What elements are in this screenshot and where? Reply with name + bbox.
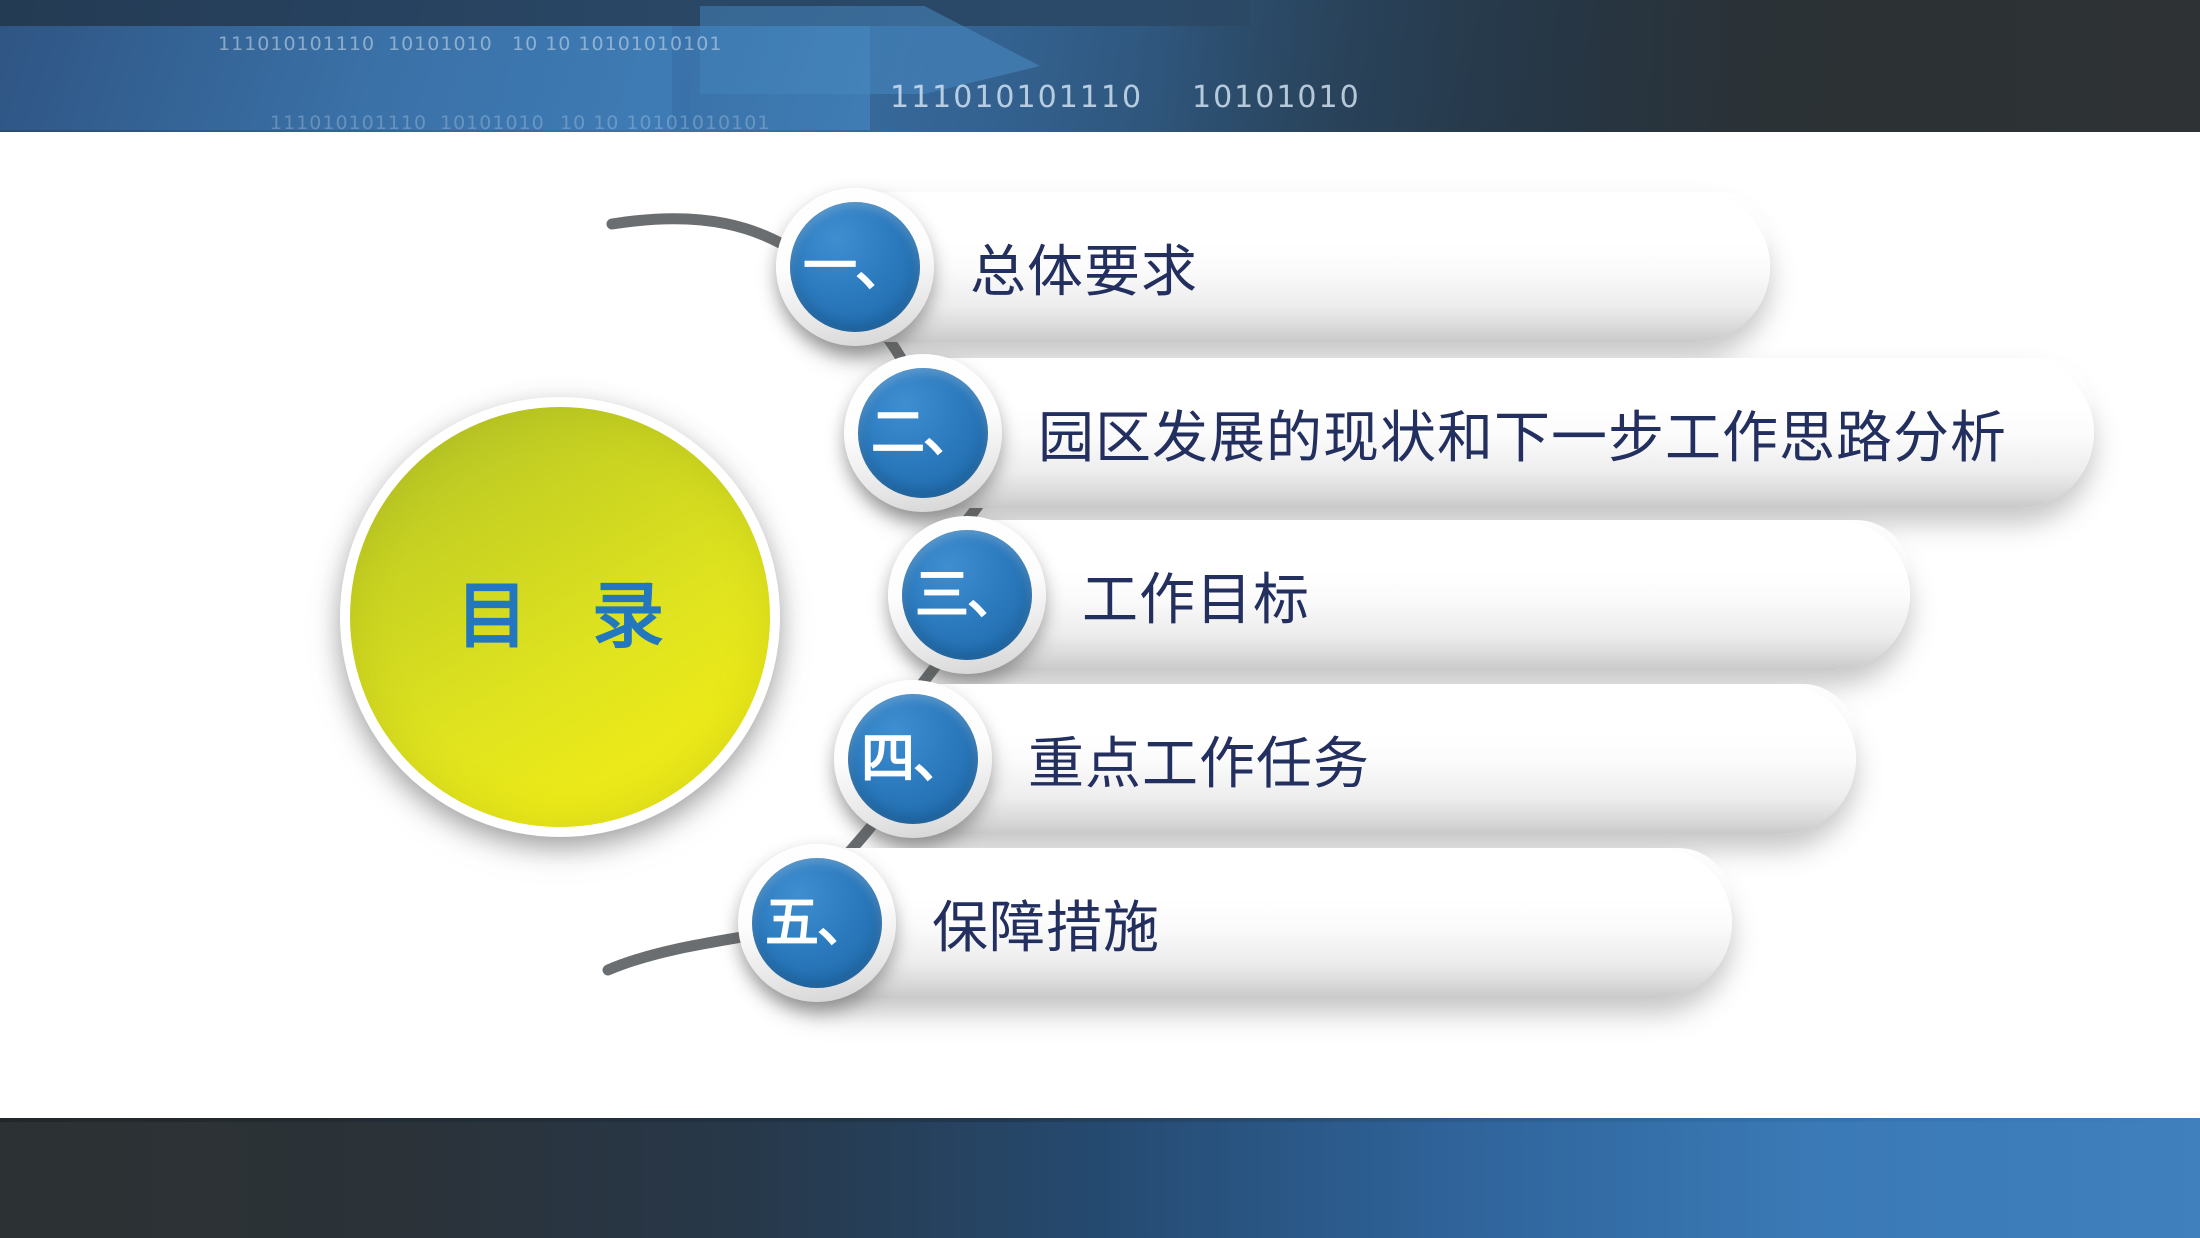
agenda-badge-4[interactable]: 四、 bbox=[834, 680, 992, 838]
agenda-number-2: 二、 bbox=[871, 406, 975, 460]
binary-text: 10101010 bbox=[440, 112, 545, 132]
agenda-pill-5[interactable] bbox=[752, 848, 1732, 998]
binary-text: 10 10 10101010101 bbox=[512, 33, 722, 55]
binary-text: 111010101110 bbox=[218, 33, 375, 55]
badge-core: 四、 bbox=[848, 694, 978, 824]
agenda-label-3: 工作目标 bbox=[1082, 520, 1310, 670]
agenda-row-2[interactable]: 园区发展的现状和下一步工作思路分析 二、 bbox=[858, 358, 2094, 508]
agenda-pill-3[interactable] bbox=[902, 520, 1910, 670]
banner-dark-strip bbox=[0, 0, 1250, 26]
binary-text: 111010101110 bbox=[270, 112, 427, 132]
binary-text: 111010101110 bbox=[890, 80, 1143, 115]
agenda-badge-3[interactable]: 三、 bbox=[888, 516, 1046, 674]
agenda-number-5: 五、 bbox=[765, 896, 869, 950]
agenda-label-1: 总体要求 bbox=[970, 192, 1198, 342]
agenda-row-4[interactable]: 重点工作任务 四、 bbox=[848, 684, 1856, 834]
agenda-number-1: 一、 bbox=[803, 240, 907, 294]
agenda-slide: 111010101110 10101010 10 10 10101010101 … bbox=[0, 0, 2200, 1238]
agenda-badge-1[interactable]: 一、 bbox=[776, 188, 934, 346]
agenda-number-3: 三、 bbox=[915, 568, 1019, 622]
slide-body: 目 录 总体要求 一、 园区发展的现状和下一步工作思路分析 二 bbox=[0, 132, 2200, 1118]
binary-text: 10101010 bbox=[1192, 80, 1361, 115]
agenda-row-5[interactable]: 保障措施 五、 bbox=[752, 848, 1732, 998]
agenda-label-2: 园区发展的现状和下一步工作思路分析 bbox=[1038, 358, 2007, 508]
bottom-banner bbox=[0, 1118, 2200, 1238]
badge-core: 二、 bbox=[858, 368, 988, 498]
disc-fill: 目 录 bbox=[350, 407, 770, 827]
agenda-pill-1[interactable] bbox=[790, 192, 1770, 342]
badge-core: 一、 bbox=[790, 202, 920, 332]
agenda-label-4: 重点工作任务 bbox=[1028, 684, 1370, 834]
agenda-number-4: 四、 bbox=[861, 732, 965, 786]
toc-disc: 目 录 bbox=[330, 387, 790, 847]
badge-core: 五、 bbox=[752, 858, 882, 988]
toc-title-text: 目 录 bbox=[434, 581, 686, 653]
agenda-badge-2[interactable]: 二、 bbox=[844, 354, 1002, 512]
badge-core: 三、 bbox=[902, 530, 1032, 660]
agenda-badge-5[interactable]: 五、 bbox=[738, 844, 896, 1002]
agenda-label-5: 保障措施 bbox=[932, 848, 1160, 998]
binary-text: 10 10 10101010101 bbox=[560, 112, 770, 132]
top-banner: 111010101110 10101010 10 10 10101010101 … bbox=[0, 0, 2200, 132]
bottom-banner-edge bbox=[0, 1118, 2200, 1122]
agenda-row-1[interactable]: 总体要求 一、 bbox=[790, 192, 1770, 342]
binary-text: 10101010 bbox=[388, 33, 493, 55]
agenda-row-3[interactable]: 工作目标 三、 bbox=[902, 520, 1910, 670]
